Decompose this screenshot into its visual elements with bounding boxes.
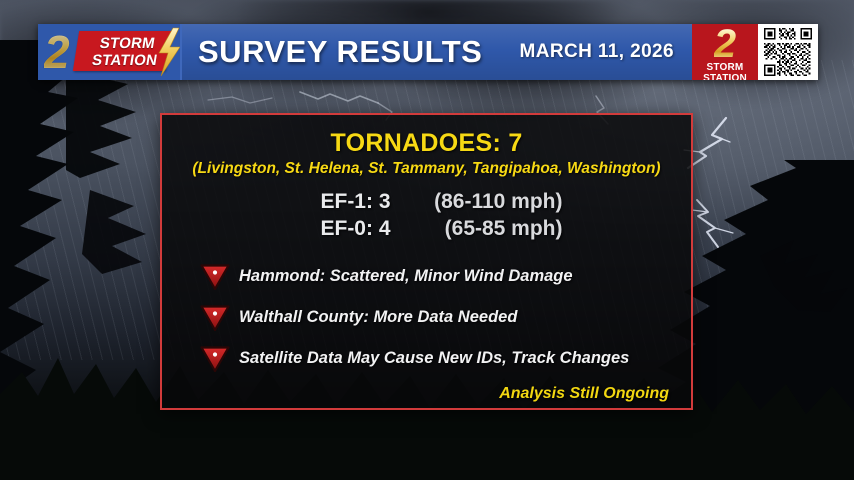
ef-rating-label: EF-1: 3 xyxy=(273,188,391,215)
station-logo-number: 2 xyxy=(44,26,70,78)
list-item: Hammond: Scattered, Minor Wind Damage xyxy=(178,256,675,297)
list-item-label: Hammond: Scattered, Minor Wind Damage xyxy=(239,267,573,286)
tornado-marker-icon xyxy=(200,264,230,290)
header-date: MARCH 11, 2026 xyxy=(519,41,674,63)
ef-rating-label: EF-0: 4 xyxy=(273,215,391,242)
tornado-marker-icon xyxy=(200,346,230,372)
corner-station-logo[interactable]: 2 STORM STATION xyxy=(692,24,758,80)
ef-rating-windspeed: (86-110 mph) xyxy=(391,188,581,215)
header-title-area: SURVEY RESULTS MARCH 11, 2026 xyxy=(182,24,692,80)
list-item: Walthall County: More Data Needed xyxy=(178,297,675,338)
qr-code-icon[interactable] xyxy=(758,24,818,80)
qr-code-matrix xyxy=(762,28,814,76)
page-title: SURVEY RESULTS xyxy=(198,34,482,70)
lightning-bolt-icon xyxy=(156,27,182,77)
ef-rating-row: EF-0: 4 (65-85 mph) xyxy=(178,215,675,242)
notes-list: Hammond: Scattered, Minor Wind Damage Wa… xyxy=(178,256,675,379)
list-item: Satellite Data May Cause New IDs, Track … xyxy=(178,338,675,379)
corner-logo-line1: STORM xyxy=(707,63,744,74)
survey-results-panel: TORNADOES: 7 (Livingston, St. Helena, St… xyxy=(160,113,693,410)
ef-rating-windspeed: (65-85 mph) xyxy=(391,215,581,242)
station-logo-line2: STATION xyxy=(91,52,159,69)
station-logo-line1: STORM xyxy=(99,35,157,52)
list-item-label: Satellite Data May Cause New IDs, Track … xyxy=(239,349,629,368)
affected-parishes: (Livingston, St. Helena, St. Tammany, Ta… xyxy=(178,160,675,178)
station-logo[interactable]: 2 STORM STATION xyxy=(38,24,182,80)
tornado-marker-icon xyxy=(200,305,230,331)
broadcast-graphic: 2 STORM STATION SURVEY RESULTS MARCH 1 xyxy=(0,0,854,480)
tornado-count-heading: TORNADOES: 7 xyxy=(178,129,675,158)
list-item-label: Walthall County: More Data Needed xyxy=(239,308,517,327)
ef-ratings-list: EF-1: 3 (86-110 mph) EF-0: 4 (65-85 mph) xyxy=(178,188,675,242)
ef-rating-row: EF-1: 3 (86-110 mph) xyxy=(178,188,675,215)
corner-logo-number: 2 xyxy=(714,25,736,63)
corner-logo-line2: STATION xyxy=(703,74,747,81)
analysis-status: Analysis Still Ongoing xyxy=(178,385,675,403)
header-bar: 2 STORM STATION SURVEY RESULTS MARCH 1 xyxy=(38,24,818,80)
